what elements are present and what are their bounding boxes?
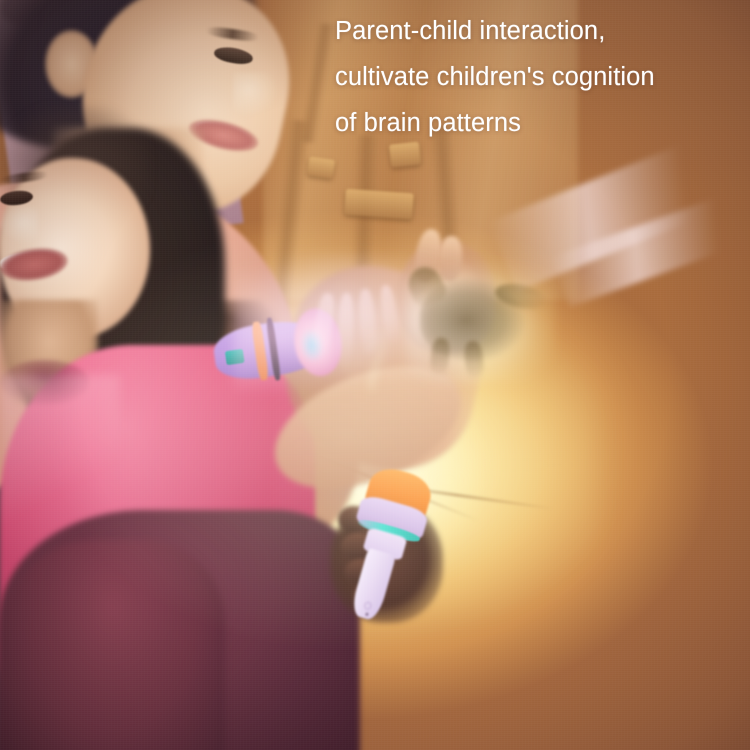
tent-strap-loop (344, 189, 413, 219)
caption-line-2: cultivate children's cognition (335, 54, 735, 100)
projector-power-switch[interactable] (225, 348, 245, 364)
girl-nose (0, 206, 38, 244)
girl-shirt-highlight (0, 375, 120, 525)
woman-nose (233, 72, 278, 117)
caption-line-3: of brain patterns (335, 100, 735, 146)
marketing-caption: Parent-child interaction, cultivate chil… (335, 8, 735, 146)
flashlight-power-button[interactable] (363, 601, 373, 611)
girl-leg (0, 540, 225, 750)
flashlight-handle[interactable] (350, 547, 396, 621)
flashlight-strap-hole (365, 612, 368, 615)
caption-line-1: Parent-child interaction, (335, 8, 735, 54)
tent-strap-loop (306, 156, 334, 179)
product-lifestyle-photo: ★ ★ ★ ★ (0, 0, 750, 750)
